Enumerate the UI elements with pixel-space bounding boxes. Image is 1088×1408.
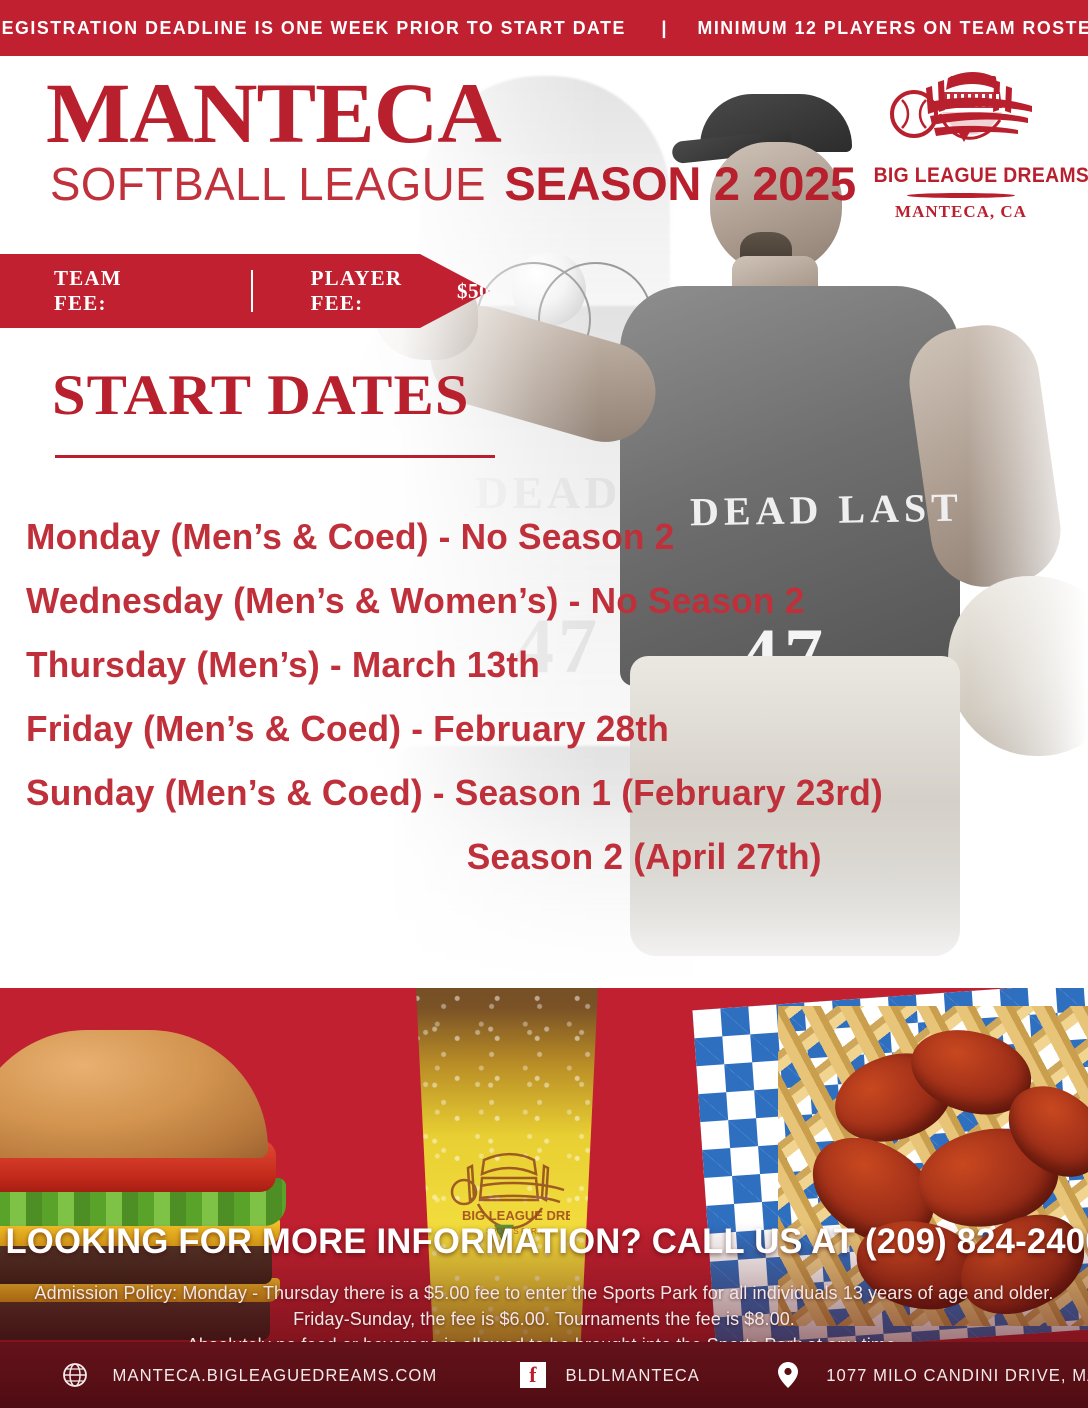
page-subtitle: SOFTBALL LEAGUE SEASON 2 2025 [50, 156, 856, 211]
footer-facebook[interactable]: f BLDLMANTECA [520, 1362, 703, 1388]
call-to-action: LOOKING FOR MORE INFORMATION? CALL US AT… [5, 1222, 1082, 1262]
start-date-row: Season 2 (April 27th) [26, 825, 869, 889]
player-fee-label: PLAYER FEE: [311, 266, 447, 316]
player-glove-arm [903, 318, 1068, 594]
start-dates-list: Monday (Men’s & Coed) - No Season 2 Wedn… [26, 505, 886, 889]
top-banner-left-text: REGISTRATION DEADLINE IS ONE WEEK PRIOR … [0, 17, 626, 39]
policy-line-2: Friday-Sunday, the fee is $6.00. Tournam… [0, 1306, 1088, 1332]
svg-text:BIG LEAGUE DREAMS: BIG LEAGUE DREAMS [462, 1208, 570, 1223]
player-neck [732, 256, 818, 326]
footer-address[interactable]: 1077 MILO CANDINI DRIVE, MANTECA, CA 953… [777, 1361, 1088, 1389]
top-banner-right-text: MINIMUM 12 PLAYERS ON TEAM ROSTER [697, 17, 1088, 39]
stadium-baseball-logo-icon [886, 68, 1036, 160]
top-banner-separator: | [639, 17, 688, 39]
logo-name: BIG LEAGUE DREAMS [874, 164, 1049, 188]
start-dates-heading: START DATES [52, 363, 470, 428]
globe-icon [62, 1362, 88, 1388]
fee-divider [251, 270, 253, 312]
start-dates-divider [55, 455, 495, 458]
footer-address-text: 1077 MILO CANDINI DRIVE, MANTECA, CA 953… [827, 1365, 1088, 1386]
footer-website[interactable]: MANTECA.BIGLEAGUEDREAMS.COM [62, 1362, 446, 1388]
top-banner: REGISTRATION DEADLINE IS ONE WEEK PRIOR … [0, 0, 1088, 56]
softball-main [512, 252, 586, 326]
brand-logo: BIG LEAGUE DREAMS MANTECA, CA [866, 68, 1056, 223]
subtitle-league: SOFTBALL LEAGUE [50, 157, 486, 211]
logo-city: MANTECA, CA [866, 202, 1056, 222]
subtitle-season: SEASON 2 2025 [504, 156, 855, 211]
map-pin-icon [777, 1361, 799, 1389]
player-glove [948, 576, 1088, 756]
page-title: MANTECA [46, 72, 501, 155]
player-cap [700, 94, 852, 152]
player-beard [740, 232, 792, 274]
facebook-icon: f [520, 1362, 546, 1388]
team-fee-label: TEAM FEE: [54, 266, 169, 316]
logo-swoosh-divider [907, 193, 1015, 198]
footer-website-text: MANTECA.BIGLEAGUEDREAMS.COM [113, 1365, 438, 1386]
fee-banner: TEAM FEE: PLAYER FEE: $50 [0, 254, 490, 328]
start-date-row: Friday (Men’s & Coed) - February 28th [26, 697, 869, 761]
start-date-row: Sunday (Men’s & Coed) - Season 1 (Februa… [26, 761, 869, 825]
footer-bar: MANTECA.BIGLEAGUEDREAMS.COM f BLDLMANTEC… [0, 1342, 1088, 1408]
burger-bun [0, 1030, 268, 1158]
flyer-page: REGISTRATION DEADLINE IS ONE WEEK PRIOR … [0, 0, 1088, 1408]
start-date-row: Wednesday (Men’s & Women’s) - No Season … [26, 569, 869, 633]
start-date-row: Monday (Men’s & Coed) - No Season 2 [26, 505, 869, 569]
footer-facebook-text: BLDLMANTECA [565, 1365, 699, 1386]
start-date-row: Thursday (Men’s) - March 13th [26, 633, 869, 697]
policy-line-1: Admission Policy: Monday - Thursday ther… [0, 1280, 1088, 1306]
player-fee-value: $50 [457, 279, 490, 304]
